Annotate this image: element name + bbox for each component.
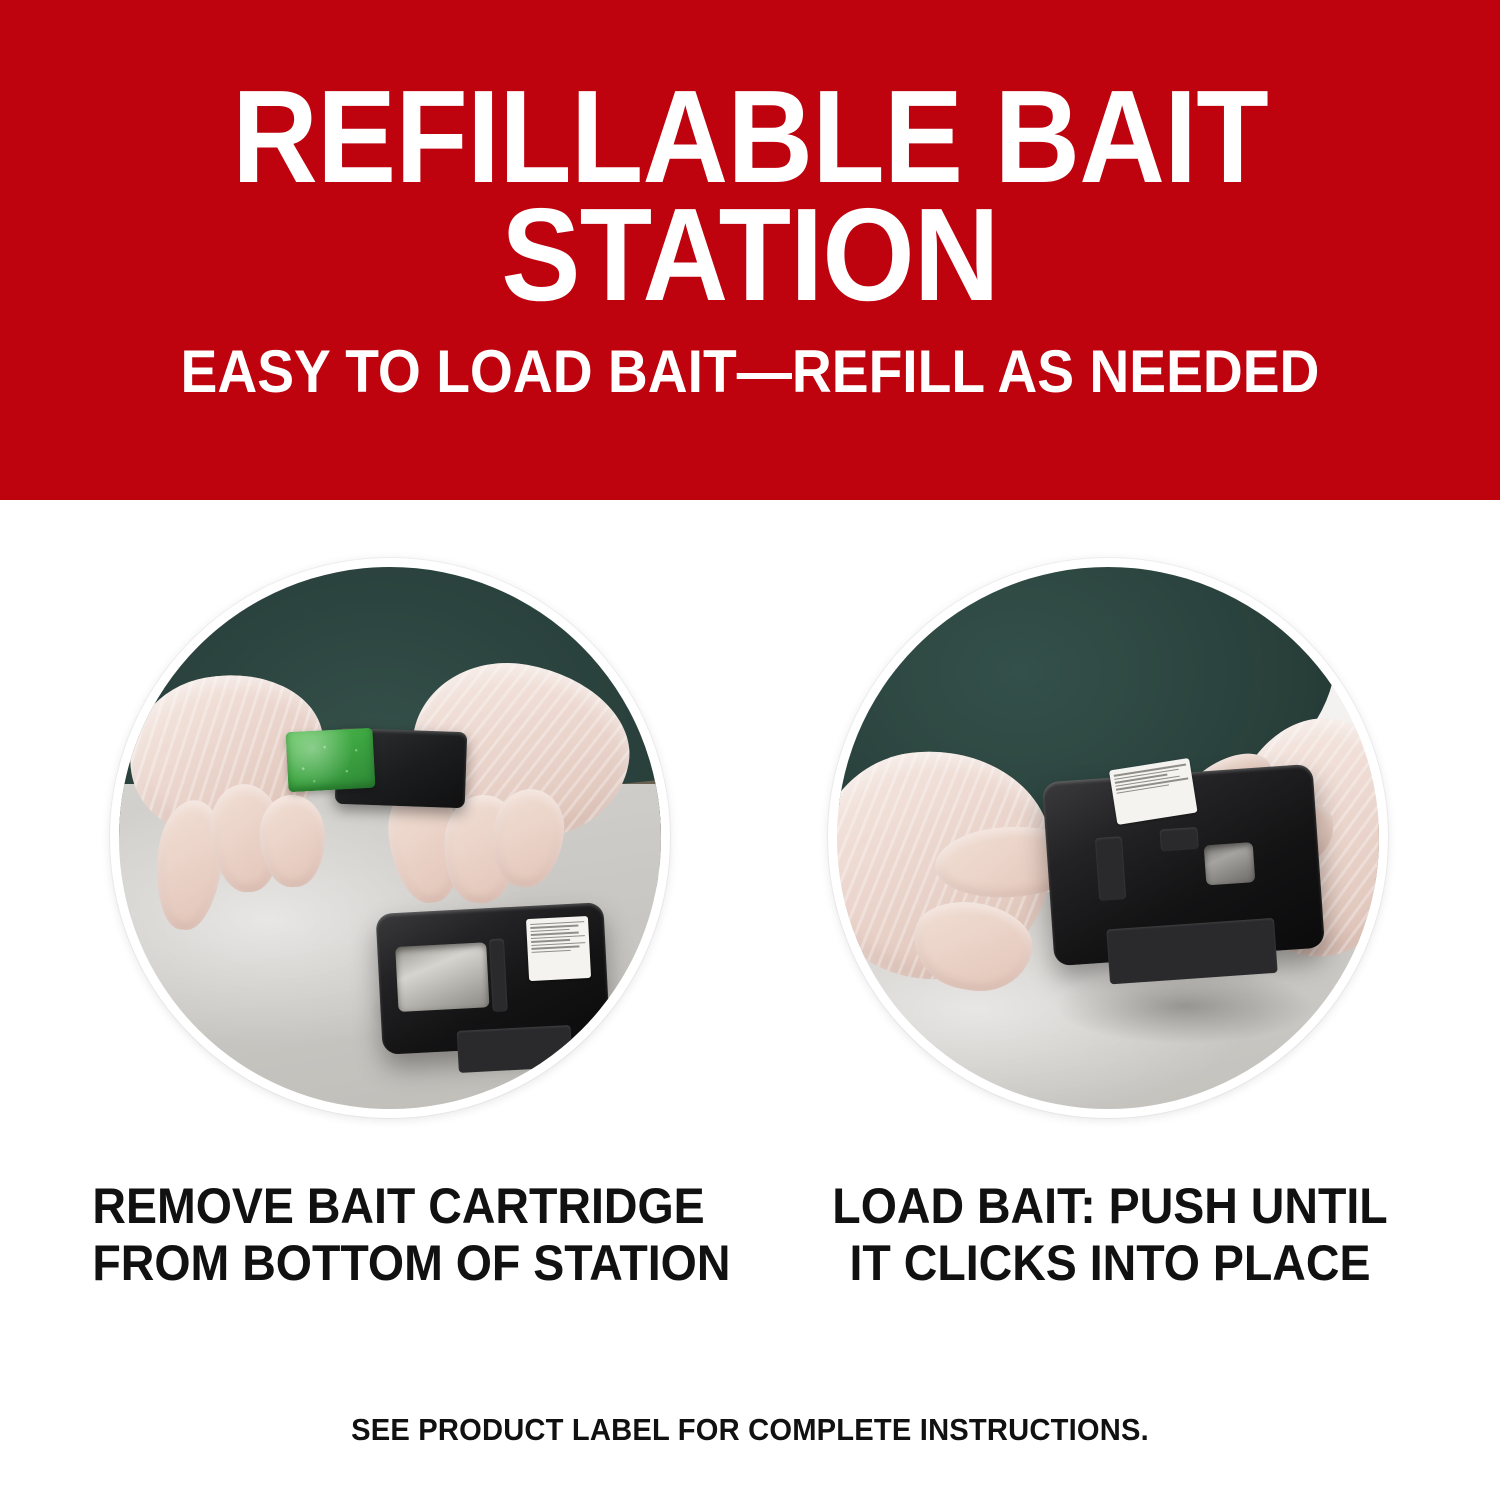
step-2-scene: [837, 567, 1379, 1109]
title-line-1: REFILLABLE BAIT: [75, 78, 1425, 196]
step-1-photo: [110, 558, 670, 1118]
bait-station-closing: [1042, 764, 1325, 967]
page-title: REFILLABLE BAIT STATION: [0, 78, 1500, 314]
station-latch: [1160, 827, 1199, 852]
page-subtitle: EASY TO LOAD BAIT—REFILL AS NEEDED: [60, 338, 1440, 406]
step-2-photo: [828, 558, 1388, 1118]
step-2-photo-wrap: [828, 558, 1388, 1118]
station-bait-cavity: [396, 943, 490, 1012]
step-1-scene: [119, 567, 661, 1109]
title-line-2: STATION: [75, 196, 1425, 314]
step-1-caption: REMOVE BAIT CARTRIDGE FROM BOTTOM OF STA…: [92, 1178, 687, 1292]
step-1-caption-line-1: REMOVE BAIT CARTRIDGE: [92, 1178, 687, 1235]
footnote-text: SEE PRODUCT LABEL FOR COMPLETE INSTRUCTI…: [45, 1412, 1455, 1448]
station-warning-label: [1110, 758, 1199, 825]
station-divider-rib: [1095, 836, 1126, 900]
step-1-caption-line-2: FROM BOTTOM OF STATION: [92, 1235, 687, 1292]
step-1-photo-wrap: [110, 558, 670, 1118]
bait-station-open: [376, 903, 611, 1056]
station-divider-rib: [489, 939, 509, 1013]
green-bait-block: [286, 727, 376, 791]
station-warning-label: [526, 916, 591, 981]
step-2-caption: LOAD BAIT: PUSH UNTIL IT CLICKS INTO PLA…: [812, 1178, 1407, 1292]
station-shadow: [1054, 968, 1314, 1044]
header-banner: REFILLABLE BAIT STATION EASY TO LOAD BAI…: [0, 0, 1500, 500]
station-bait-cavity: [1204, 842, 1255, 886]
step-2-caption-line-1: LOAD BAIT: PUSH UNTIL: [812, 1178, 1407, 1235]
station-front-panel: [457, 1026, 573, 1074]
product-infographic: REFILLABLE BAIT STATION EASY TO LOAD BAI…: [0, 0, 1500, 1500]
step-2-caption-line-2: IT CLICKS INTO PLACE: [812, 1235, 1407, 1292]
